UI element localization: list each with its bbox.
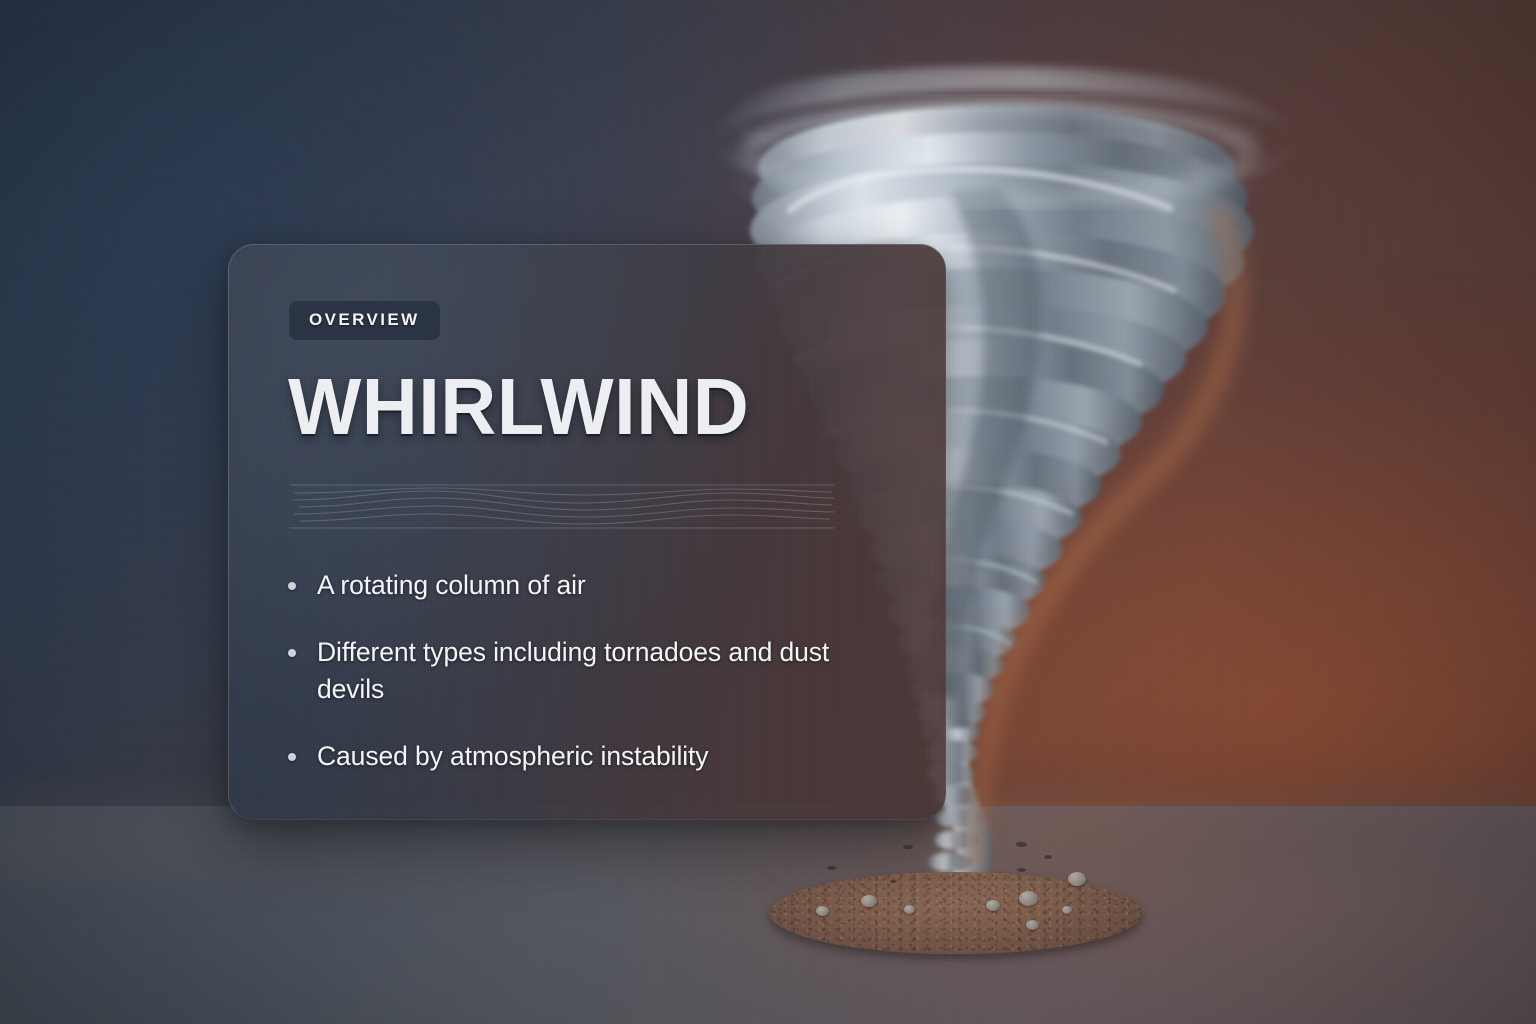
feature-list: A rotating column of air Different types… bbox=[288, 567, 848, 776]
overview-card: OVERVIEW WHIRLWIND bbox=[228, 244, 946, 820]
overview-badge[interactable]: OVERVIEW bbox=[288, 300, 441, 341]
list-item-text: Caused by atmospheric instability bbox=[317, 741, 708, 771]
page-title: WHIRLWIND bbox=[288, 367, 926, 447]
list-item-text: A rotating column of air bbox=[317, 570, 586, 600]
bullet-dot-icon bbox=[288, 753, 296, 761]
list-item: Caused by atmospheric instability bbox=[288, 738, 848, 776]
list-item: Different types including tornadoes and … bbox=[288, 634, 848, 709]
card-content: OVERVIEW WHIRLWIND bbox=[228, 244, 946, 776]
bullet-dot-icon bbox=[288, 649, 296, 657]
scene-root: OVERVIEW WHIRLWIND bbox=[0, 0, 1536, 1024]
bullet-dot-icon bbox=[288, 582, 296, 590]
wind-lines-icon bbox=[288, 481, 836, 531]
list-item: A rotating column of air bbox=[288, 567, 848, 605]
list-item-text: Different types including tornadoes and … bbox=[317, 637, 829, 705]
